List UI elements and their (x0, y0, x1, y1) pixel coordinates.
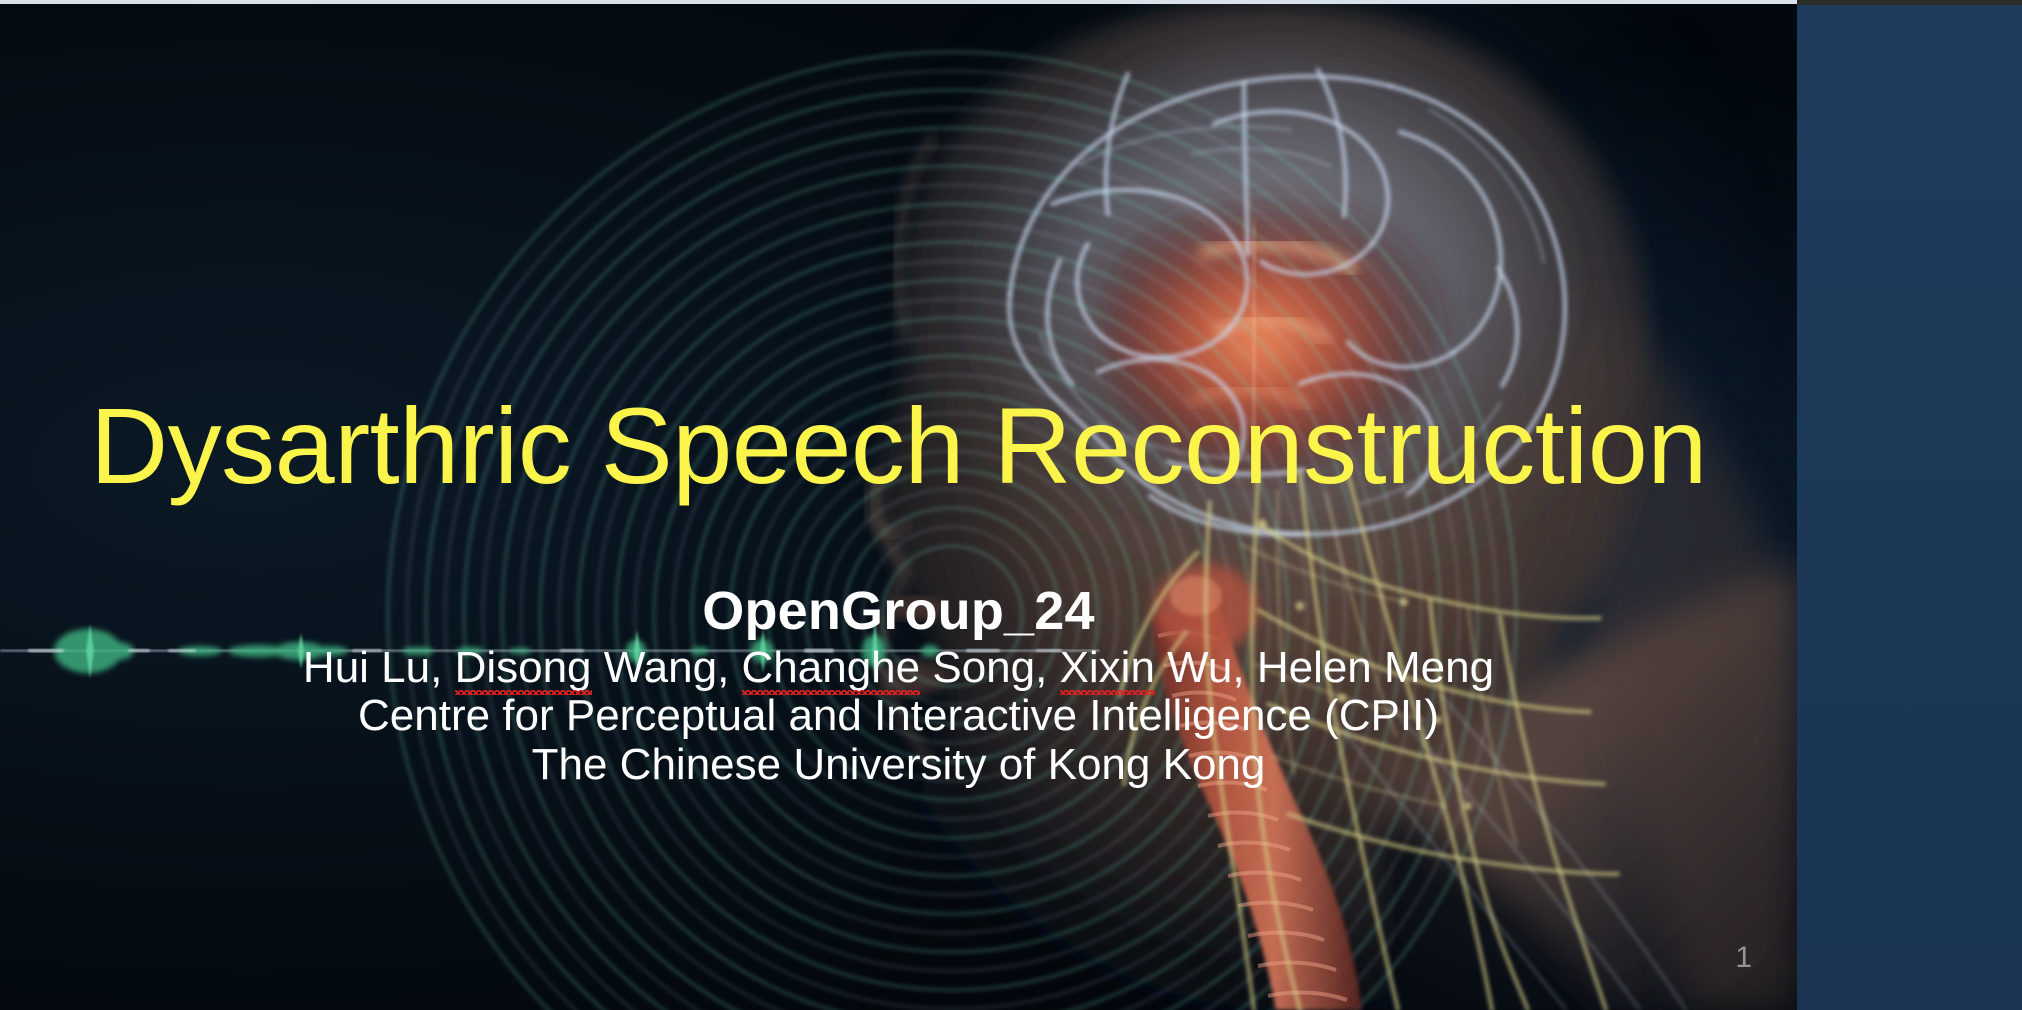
author-name-xixin: Xixin (1060, 644, 1155, 692)
title-slide[interactable]: Dysarthric Speech Reconstruction OpenGro… (0, 4, 1797, 1010)
anatomical-head-illustration (0, 4, 1797, 1010)
app-top-edge-strip (0, 0, 1797, 4)
background-glow-right (1470, 44, 1797, 1010)
author-list: Hui Lu, Disong Wang, Changhe Song, Xixin… (0, 644, 1797, 692)
author-mid-1: Wang, (592, 643, 742, 692)
author-name-disong: Disong (455, 644, 592, 692)
author-prefix: Hui Lu, (303, 643, 455, 692)
author-mid-2: Song, (920, 643, 1059, 692)
event-name: OpenGroup_24 (0, 580, 1797, 644)
app-right-background-panel (1797, 5, 2022, 1010)
affiliation-line-2: The Chinese University of Kong Kong (0, 741, 1797, 789)
presentation-app: Dysarthric Speech Reconstruction OpenGro… (0, 0, 2022, 1010)
subtitle-block[interactable]: OpenGroup_24 Hui Lu, Disong Wang, Changh… (0, 580, 1797, 789)
affiliation-line-1: Centre for Perceptual and Interactive In… (0, 692, 1797, 740)
page-title[interactable]: Dysarthric Speech Reconstruction (0, 392, 1797, 500)
app-top-edge-strip-right (1797, 0, 2022, 5)
author-suffix: Wu, Helen Meng (1155, 643, 1494, 692)
slide-page-number: 1 (1735, 941, 1752, 975)
author-name-changhe: Changhe (742, 644, 921, 692)
